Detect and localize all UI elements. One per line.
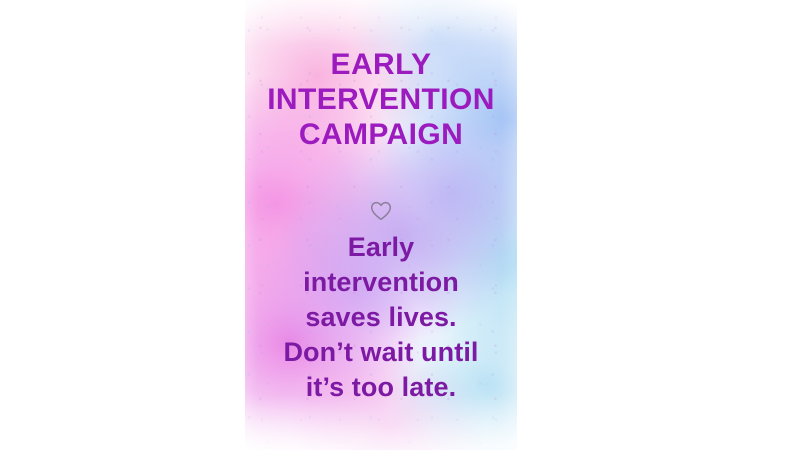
body-line-2: intervention [245, 265, 517, 300]
body-line-3: saves lives. [245, 300, 517, 335]
body-line-4: Don’t wait until [245, 335, 517, 370]
page-title: EARLY INTERVENTION CAMPAIGN [245, 47, 517, 152]
poster-content: EARLY INTERVENTION CAMPAIGN Early interv… [245, 0, 517, 450]
headline-line-3: CAMPAIGN [245, 117, 517, 152]
poster-canvas: EARLY INTERVENTION CAMPAIGN Early interv… [0, 0, 800, 450]
body-line-5: it’s too late. [245, 370, 517, 405]
poster-artwork: EARLY INTERVENTION CAMPAIGN Early interv… [245, 0, 517, 450]
headline-line-2: INTERVENTION [245, 82, 517, 117]
heart-outline-icon [245, 201, 517, 221]
headline-line-1: EARLY [245, 47, 517, 82]
body-line-1: Early [245, 230, 517, 265]
poster-body-text: Early intervention saves lives. Don’t wa… [245, 230, 517, 405]
